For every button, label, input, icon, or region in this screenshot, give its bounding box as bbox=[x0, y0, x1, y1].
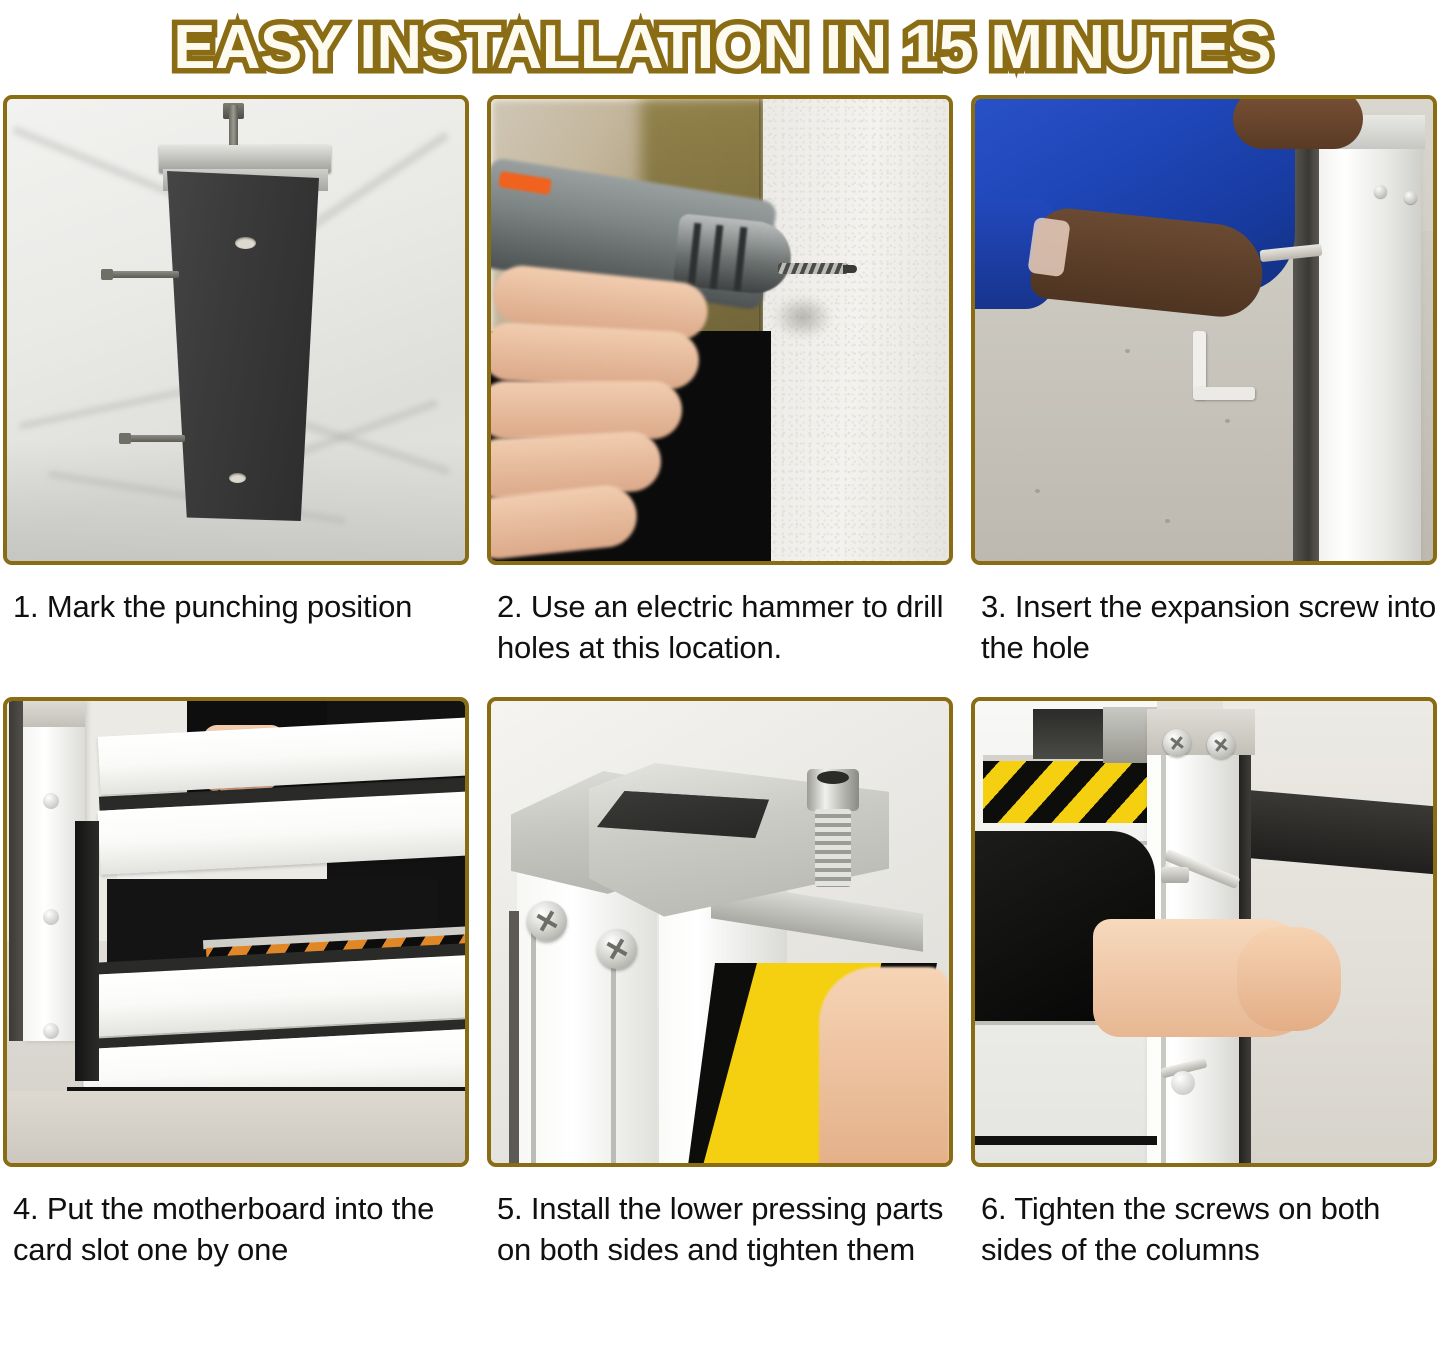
allen-key-arm bbox=[1193, 387, 1255, 400]
protruding-bolt bbox=[125, 435, 185, 442]
step-caption-3: 3. Insert the expansion screw into the h… bbox=[971, 565, 1445, 697]
step-card-4: 4. Put the motherboard into the card slo… bbox=[3, 697, 479, 1319]
floor-speck bbox=[1225, 419, 1230, 423]
step-photo-frame-2 bbox=[487, 95, 953, 565]
column-shadow bbox=[509, 911, 519, 1163]
white-column bbox=[1319, 121, 1421, 561]
bolt-thread bbox=[815, 809, 851, 887]
column-screw bbox=[43, 793, 59, 809]
worker-second-hand bbox=[1233, 99, 1363, 149]
column-screw bbox=[1207, 731, 1235, 759]
step-photo-frame-4 bbox=[3, 697, 469, 1167]
column-screw bbox=[1163, 729, 1191, 757]
floor-speck bbox=[1035, 489, 1040, 493]
installation-steps-grid: 1. Mark the punching position bbox=[0, 95, 1445, 1319]
hand-finger bbox=[491, 381, 682, 439]
step-photo-frame-3 bbox=[971, 95, 1437, 565]
step-caption-1: 1. Mark the punching position bbox=[3, 565, 479, 697]
step-card-1: 1. Mark the punching position bbox=[3, 95, 479, 697]
floor-speck bbox=[1165, 519, 1170, 523]
floor-speck bbox=[1125, 349, 1130, 353]
step-card-5: 5. Install the lower pressing parts on b… bbox=[487, 697, 963, 1319]
floor-surface bbox=[7, 1091, 465, 1163]
page-title: EASY INSTALLATION IN 15 MINUTES bbox=[173, 17, 1271, 79]
tool-handle bbox=[1161, 867, 1189, 883]
step-photo-3 bbox=[975, 99, 1433, 561]
floor-edge-line bbox=[975, 1136, 1157, 1145]
column-screw bbox=[1171, 1071, 1195, 1095]
drill-dust bbox=[773, 295, 833, 339]
bolt-hex-socket bbox=[817, 771, 849, 784]
column-groove bbox=[531, 911, 536, 1163]
column-slot-gap bbox=[75, 821, 99, 1081]
step-photo-4 bbox=[7, 701, 465, 1163]
column-hole bbox=[235, 237, 256, 249]
step-photo-frame-5 bbox=[487, 697, 953, 1167]
sleeve-cuff bbox=[1027, 217, 1070, 277]
step-card-6: 6. Tighten the screws on both sides of t… bbox=[971, 697, 1445, 1319]
step-photo-5 bbox=[491, 701, 949, 1163]
hazard-stripe-yellow-black bbox=[983, 761, 1159, 823]
column-hole bbox=[229, 473, 246, 483]
column-screw bbox=[43, 909, 59, 925]
column-screw bbox=[43, 1023, 59, 1039]
column-shadow-edge bbox=[1293, 119, 1319, 561]
step-photo-frame-1 bbox=[3, 95, 469, 565]
step-caption-6: 6. Tighten the screws on both sides of t… bbox=[971, 1167, 1445, 1319]
header-banner: EASY INSTALLATION IN 15 MINUTES bbox=[0, 0, 1445, 95]
column-screw bbox=[1404, 191, 1417, 204]
step-caption-2: 2. Use an electric hammer to drill holes… bbox=[487, 565, 963, 697]
drill-bit-tip bbox=[843, 265, 857, 273]
step-photo-1 bbox=[7, 99, 465, 561]
left-column-cap bbox=[23, 701, 85, 727]
mounting-column bbox=[167, 171, 319, 521]
bracket-screw bbox=[527, 901, 567, 941]
column-screw bbox=[1374, 185, 1387, 198]
protruding-bolt bbox=[107, 271, 179, 278]
bracket-screw bbox=[597, 929, 637, 969]
hex-bolt bbox=[807, 769, 859, 897]
step-photo-2 bbox=[491, 99, 949, 561]
step-photo-frame-6 bbox=[971, 697, 1437, 1167]
cloth-wrinkle bbox=[12, 126, 182, 201]
worker-thumb bbox=[819, 967, 949, 1163]
step-caption-4: 4. Put the motherboard into the card slo… bbox=[3, 1167, 479, 1319]
worker-fingers bbox=[1237, 927, 1341, 1031]
step-photo-6 bbox=[975, 701, 1433, 1163]
drill-bit bbox=[778, 263, 848, 274]
step-card-2: 2. Use an electric hammer to drill holes… bbox=[487, 95, 963, 697]
step-card-3: 3. Insert the expansion screw into the h… bbox=[971, 95, 1445, 697]
step-caption-5: 5. Install the lower pressing parts on b… bbox=[487, 1167, 963, 1319]
